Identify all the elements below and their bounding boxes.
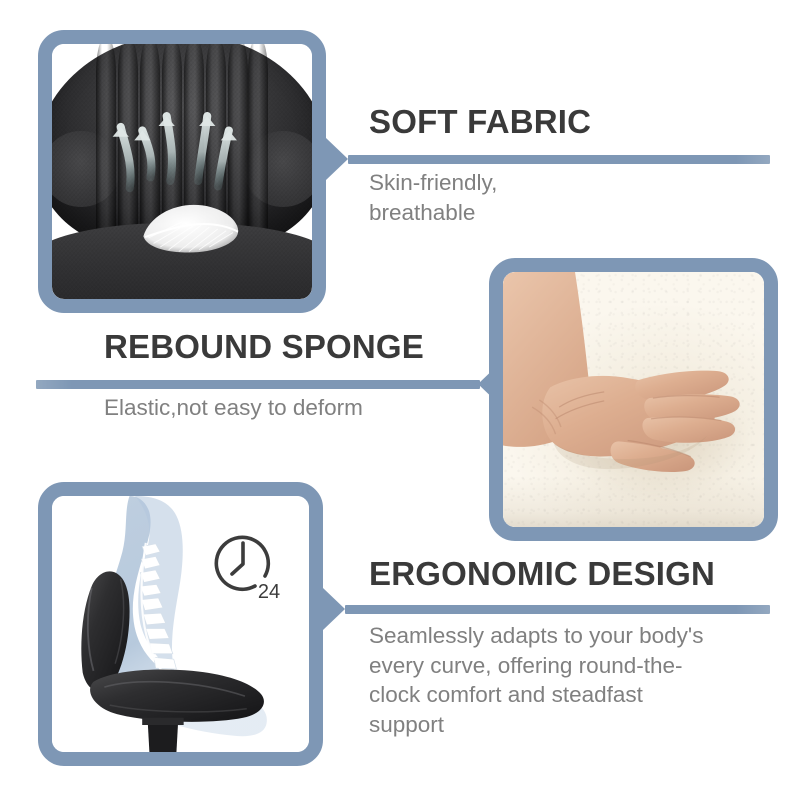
feature-description-rebound-sponge: Elastic,not easy to deform xyxy=(104,393,424,423)
feature-description-line: Skin-friendly, xyxy=(369,168,591,198)
feature-text-rebound-sponge: REBOUND SPONGE Elastic,not easy to defor… xyxy=(104,329,424,423)
feather-icon xyxy=(140,200,241,256)
feature-title-rebound-sponge: REBOUND SPONGE xyxy=(104,329,424,366)
feature-title-ergonomic-design: ERGONOMIC DESIGN xyxy=(369,556,789,593)
feature-description-soft-fabric: Skin-friendly, breathable xyxy=(369,168,591,227)
feature-image-inner-ergonomic-design: 24 xyxy=(52,496,309,752)
feature-description-line: support xyxy=(369,710,789,740)
feature-description-ergonomic-design: Seamlessly adapts to your body's every c… xyxy=(369,621,789,740)
feature-text-soft-fabric: SOFT FABRIC Skin-friendly, breathable xyxy=(369,104,591,227)
feature-description-line: clock comfort and steadfast xyxy=(369,680,789,710)
connector-arrow-ergonomic-design xyxy=(323,588,345,630)
feature-image-ergonomic-design: 24 xyxy=(38,482,323,766)
clock-badge-label: 24 xyxy=(258,582,280,602)
feature-description-line: breathable xyxy=(369,198,591,228)
feature-description-line: Elastic,not easy to deform xyxy=(104,393,424,423)
connector-arrow-rebound-sponge xyxy=(478,363,500,405)
feature-text-ergonomic-design: ERGONOMIC DESIGN Seamlessly adapts to yo… xyxy=(369,556,789,740)
feature-image-soft-fabric xyxy=(38,30,326,313)
feature-description-line: every curve, offering round-the- xyxy=(369,651,789,681)
clock-24-icon: 24 xyxy=(208,529,278,599)
infographic-canvas: SOFT FABRIC Skin-friendly, breathable xyxy=(0,0,800,800)
feature-description-line: Seamlessly adapts to your body's xyxy=(369,621,789,651)
feature-image-rebound-sponge xyxy=(489,258,778,541)
feature-title-soft-fabric: SOFT FABRIC xyxy=(369,104,591,141)
connector-arrow-soft-fabric xyxy=(326,138,348,180)
airflow-arrow-icon xyxy=(52,44,312,299)
feature-image-inner-rebound-sponge xyxy=(503,272,764,527)
foam-bottom-edge-shadow xyxy=(503,476,764,527)
feature-image-inner-soft-fabric xyxy=(52,44,312,299)
